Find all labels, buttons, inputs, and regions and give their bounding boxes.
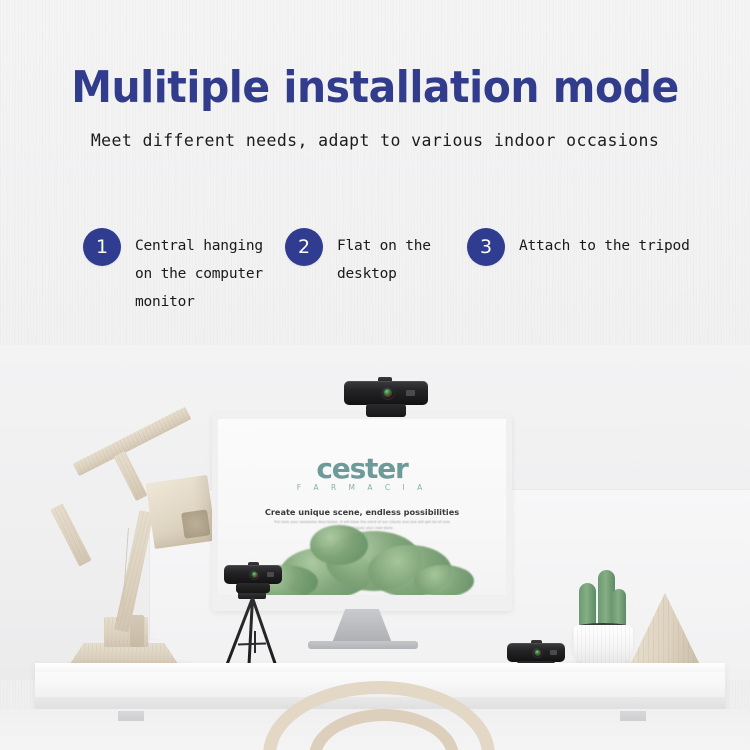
webcam-on-tripod — [222, 565, 284, 595]
webcam-body — [224, 565, 282, 584]
webcam-base-clip — [236, 583, 270, 593]
webcam-microphone — [550, 650, 557, 655]
webcam-on-monitor — [340, 381, 432, 421]
webcam-microphone — [267, 572, 274, 577]
product-infographic-page: Mulitiple installation mode Meet differe… — [0, 0, 750, 750]
site-logo: cester — [218, 452, 506, 485]
desk-leg-right — [620, 711, 646, 721]
lamp-peg-right — [113, 451, 147, 501]
step-item-2: 2 Flat on the desktop — [285, 228, 445, 288]
webcam-lens — [384, 389, 392, 397]
tripod-brace — [238, 643, 266, 646]
step-badge-3: 3 — [467, 228, 505, 266]
webcam-monitor-clip — [366, 404, 406, 417]
site-tagline: Create unique scene, endless possibiliti… — [218, 507, 506, 517]
webcam-lens — [535, 650, 541, 656]
page-title: Mulitiple installation mode — [26, 62, 724, 113]
webcam-lens-ring — [249, 569, 260, 580]
desk-leg-left — [118, 711, 144, 721]
webcam-body — [507, 643, 565, 662]
step-badge-2: 2 — [285, 228, 323, 266]
step-label-1: Central hanging on the computer monitor — [135, 228, 275, 316]
step-label-2: Flat on the desktop — [337, 228, 445, 288]
webcam-body — [344, 381, 428, 405]
step-label-3: Attach to the tripod — [519, 228, 717, 260]
cactus-plant — [568, 567, 642, 667]
step-item-3: 3 Attach to the tripod — [467, 228, 717, 266]
tripod-crank — [254, 631, 256, 653]
white-ribbed-pot — [573, 625, 633, 665]
webcam-lens — [252, 572, 258, 578]
page-subtitle: Meet different needs, adapt to various i… — [0, 131, 750, 150]
installation-steps: 1 Central hanging on the computer monito… — [0, 228, 750, 338]
lamp-cube-shade — [146, 475, 217, 549]
lamp-bulb-opening — [181, 509, 210, 538]
monitor-neck — [332, 609, 392, 643]
site-logo-subtitle: F A R M A C I A — [218, 483, 506, 492]
step-badge-1: 1 — [83, 228, 121, 266]
monitor-foot — [308, 641, 418, 649]
product-scene-photo: cester F A R M A C I A Create unique sce… — [0, 345, 750, 750]
wooden-arch-decor — [255, 677, 505, 750]
webcam-lens-ring — [532, 647, 543, 658]
webcam-microphone — [406, 390, 415, 396]
wooden-desk-lamp — [62, 457, 232, 672]
webcam-lens-ring — [381, 386, 395, 400]
desk-surface-edge — [35, 663, 725, 672]
step-item-1: 1 Central hanging on the computer monito… — [83, 228, 283, 316]
